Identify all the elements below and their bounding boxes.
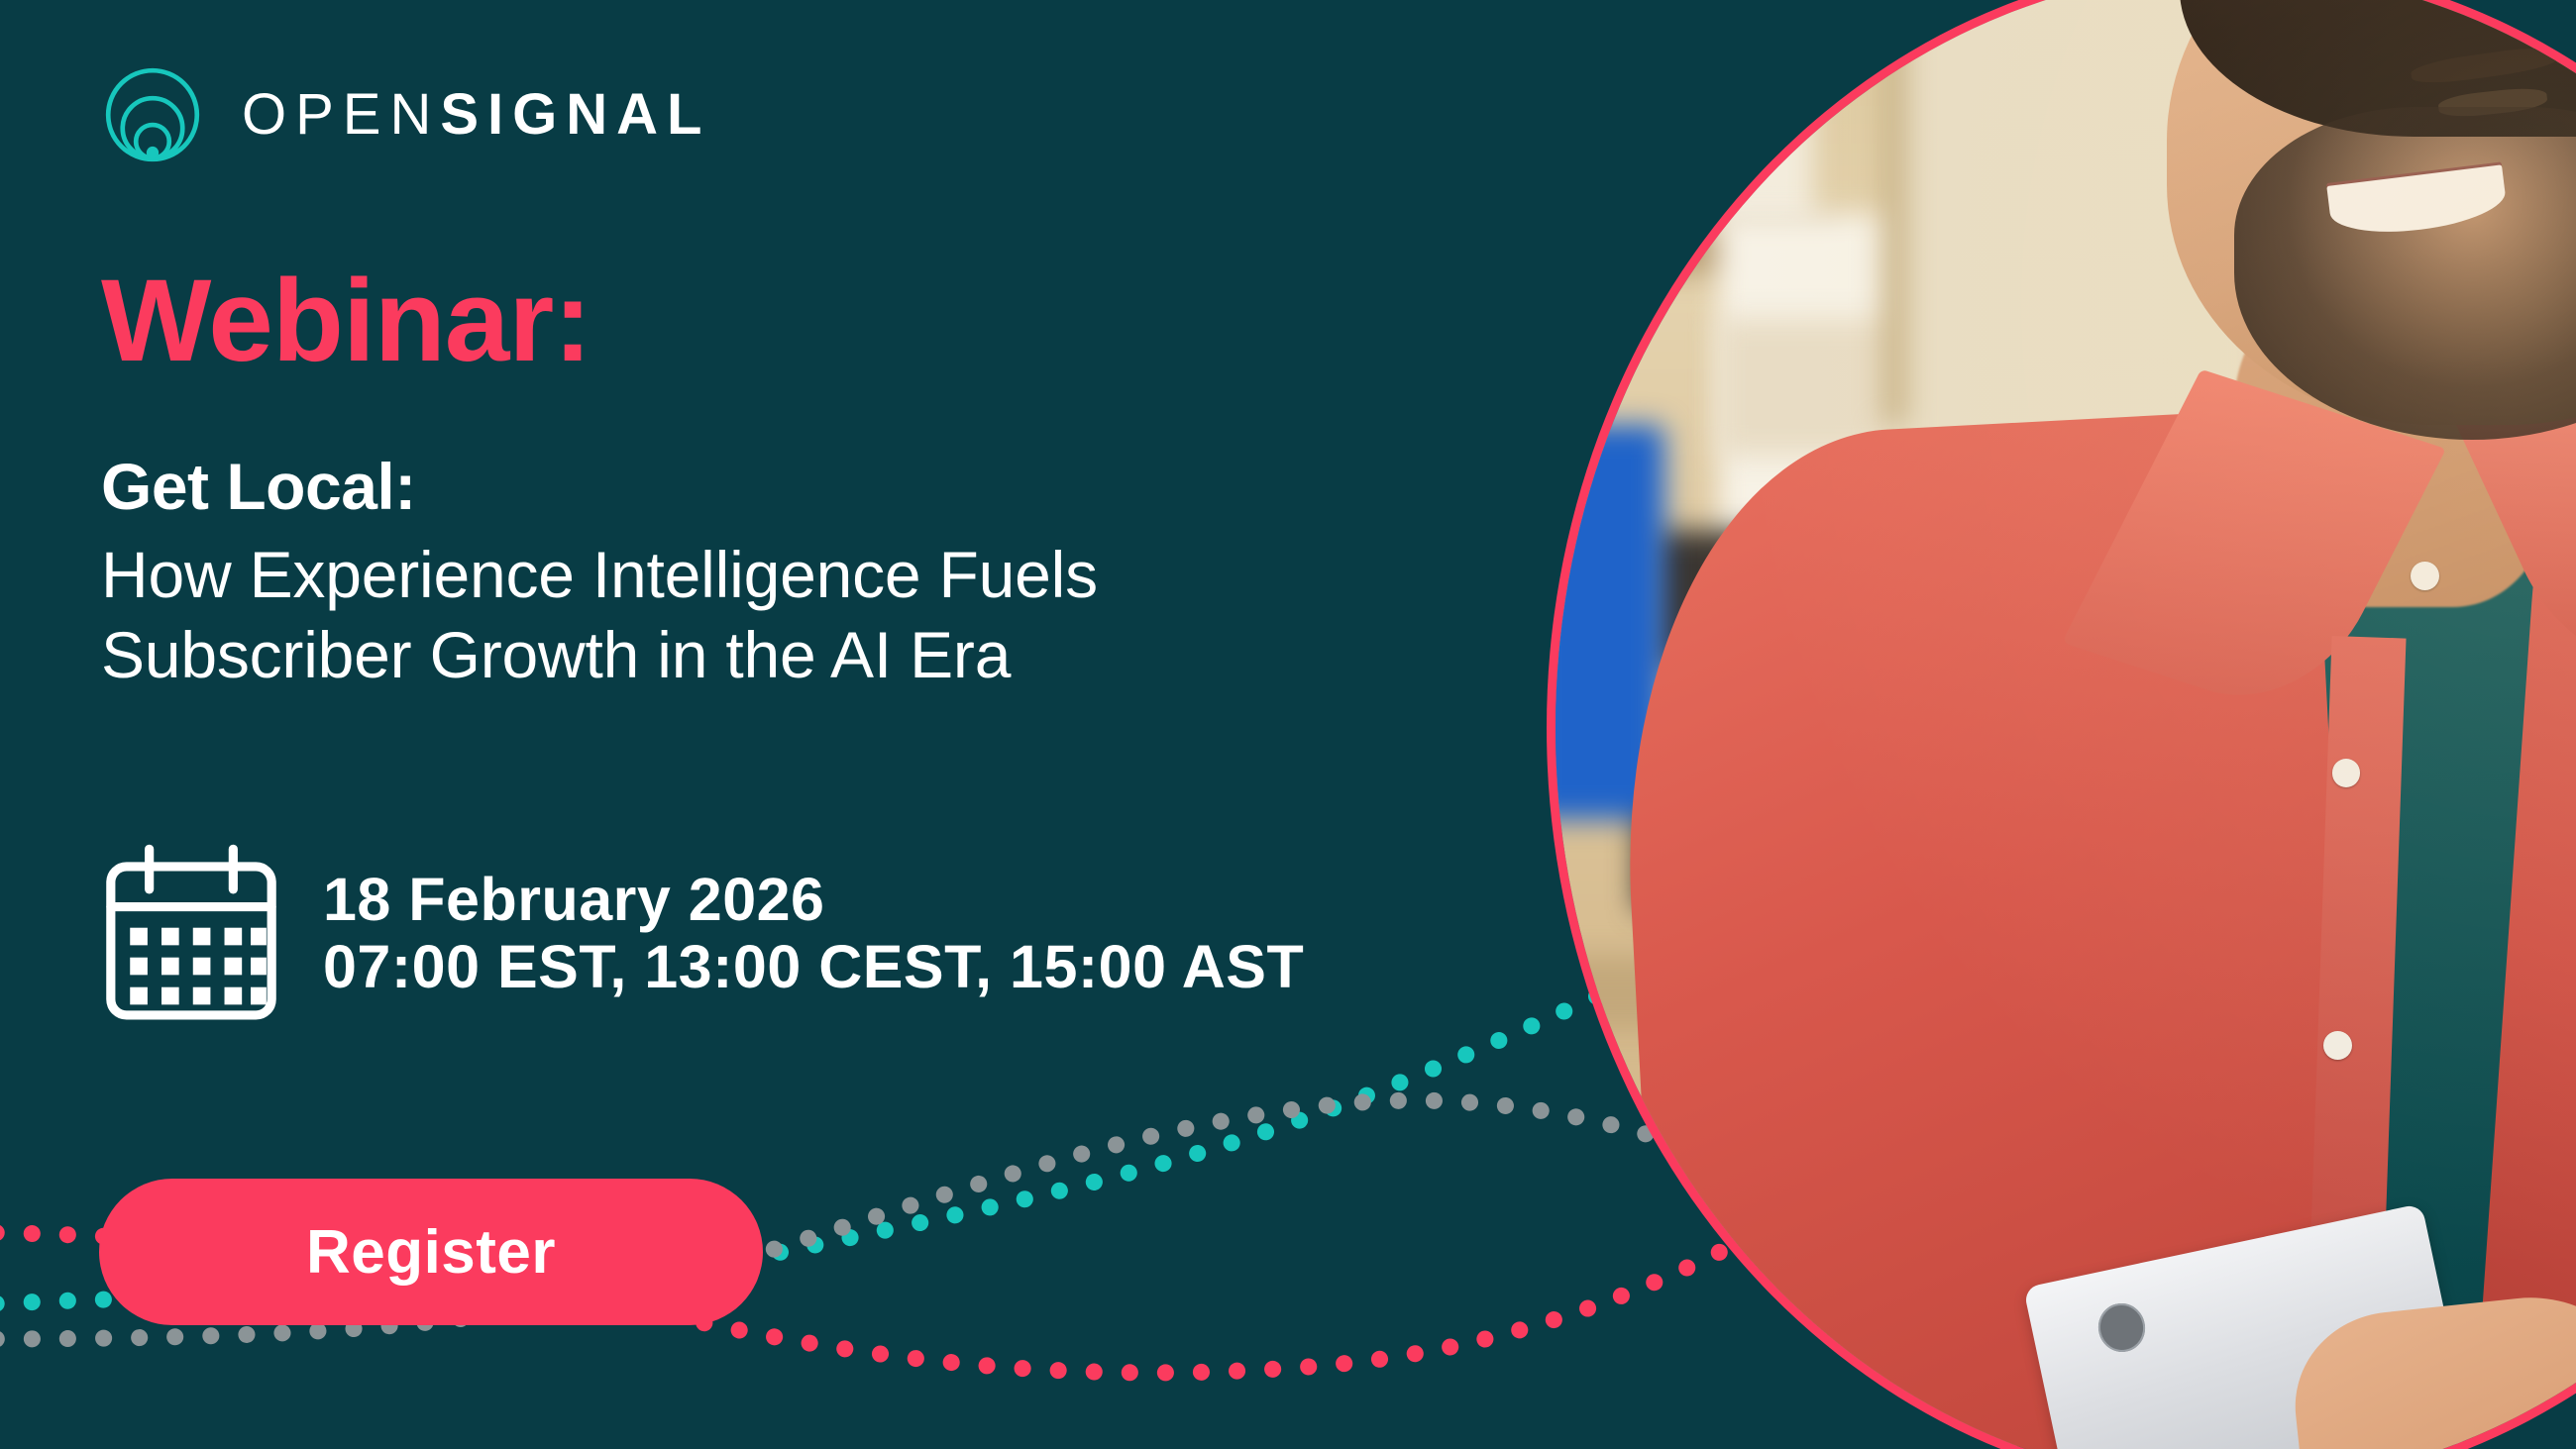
event-datetime-text: 18 February 2026 07:00 EST, 13:00 CEST, … [323,866,1304,1001]
opensignal-wordmark: OPENSIGNAL [242,86,711,144]
calendar-icon [103,844,279,1022]
title-bold-line: Get Local: [101,453,1098,521]
logo-word-signal: SIGNAL [440,82,710,147]
register-button[interactable]: Register [99,1179,763,1325]
logo-word-open: OPEN [242,82,440,147]
hero-photo-circle [1556,0,2576,1449]
event-datetime-row: 18 February 2026 07:00 EST, 13:00 CEST, … [103,844,1304,1022]
kicker-webinar: Webinar: [101,262,1098,379]
opensignal-logo[interactable]: OPENSIGNAL [97,59,711,170]
hero-photo [1556,0,2576,1449]
headline-block: Webinar: Get Local: How Experience Intel… [101,262,1098,694]
event-times: 07:00 EST, 13:00 CEST, 15:00 AST [323,933,1304,1000]
title-body-text: How Experience Intelligence Fuels Subscr… [101,535,1098,694]
photo-sun-glow [1556,0,2576,1449]
opensignal-concentric-waves-icon [97,59,208,170]
webinar-promo-banner: OPENSIGNAL Webinar: Get Local: How Exper… [0,0,2576,1449]
event-date: 18 February 2026 [323,866,1304,933]
